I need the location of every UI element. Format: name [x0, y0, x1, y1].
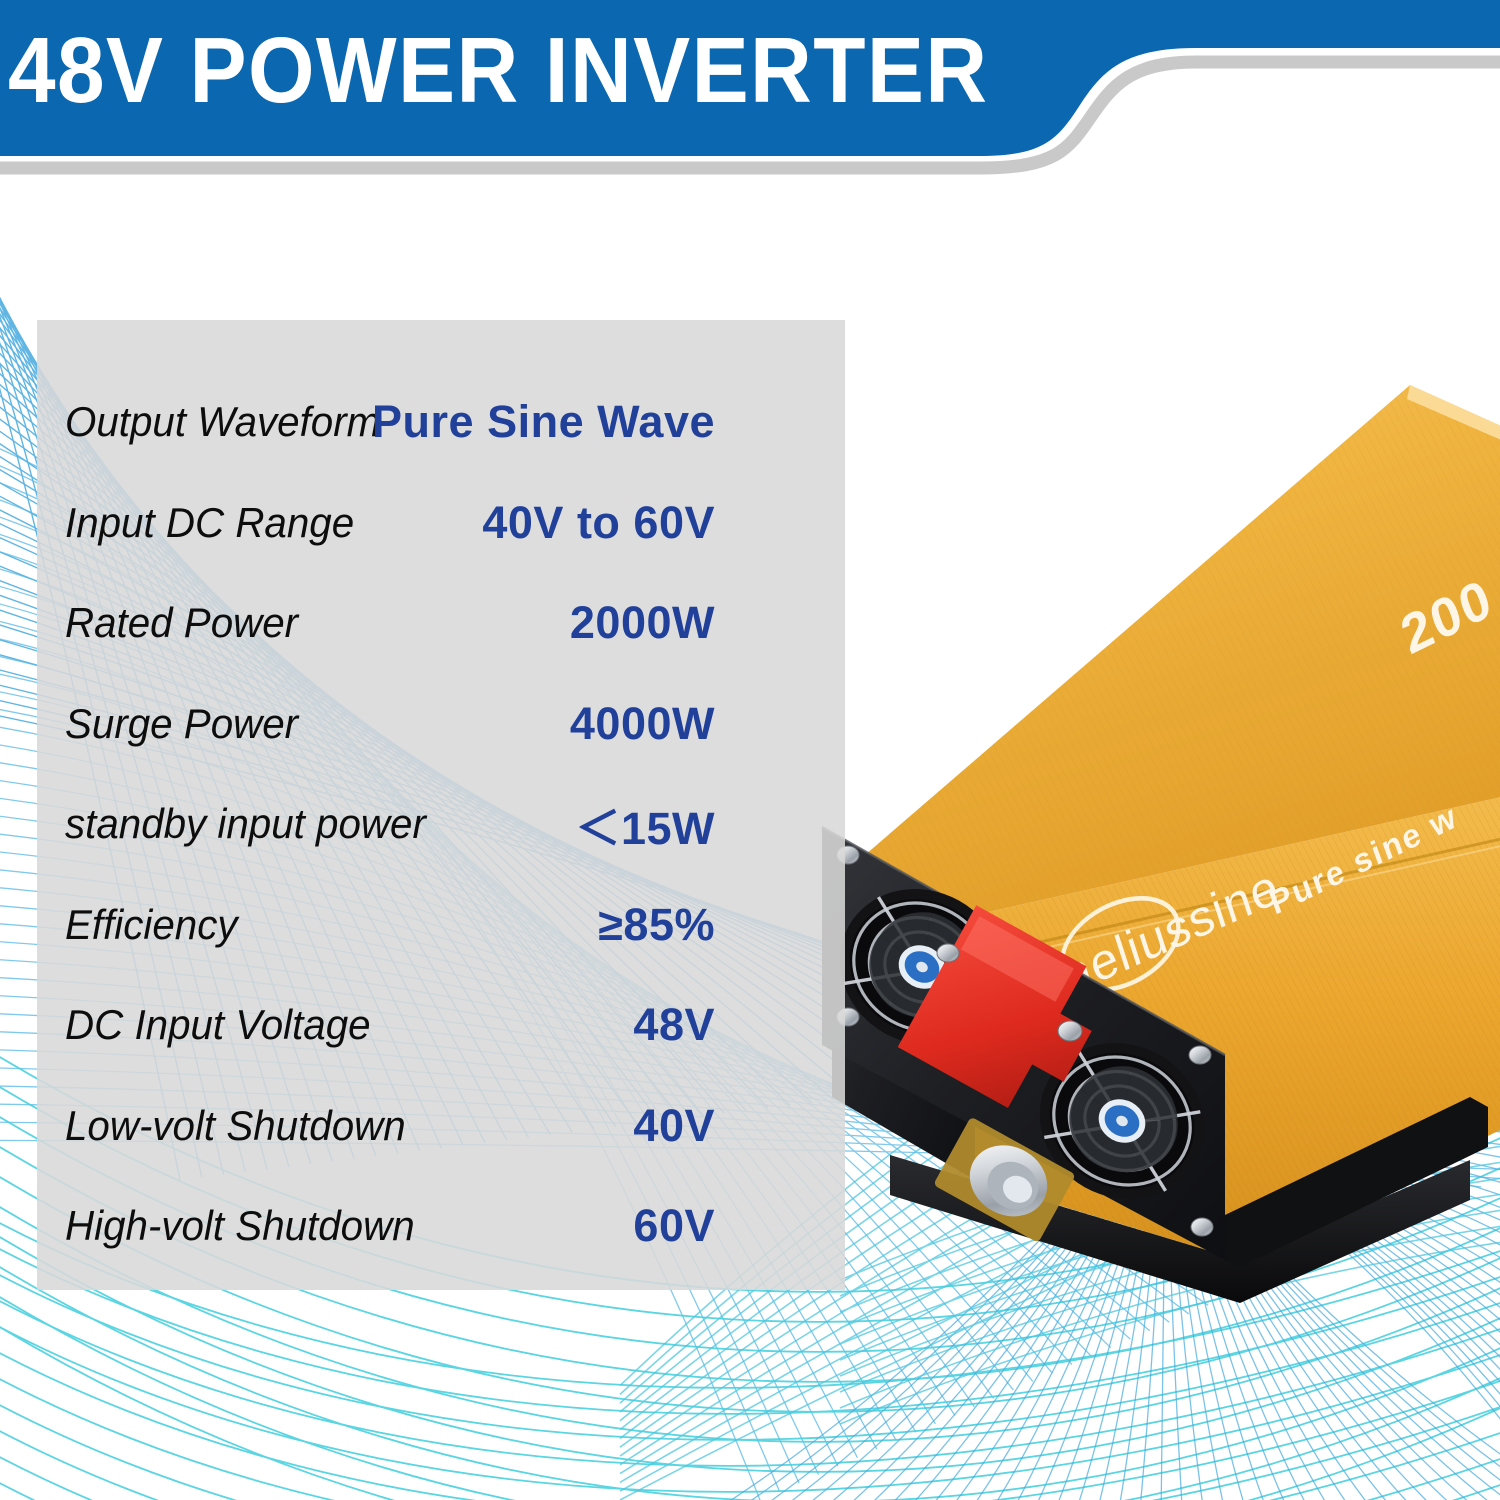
spec-row: Efficiency≥85% — [37, 895, 845, 955]
spec-label: standby input power — [65, 800, 426, 848]
screw-icon — [1189, 1046, 1211, 1064]
header-banner: 48V POWER INVERTER — [0, 0, 1500, 185]
spec-label: Input DC Range — [65, 499, 354, 547]
spec-row: Surge Power4000W — [37, 694, 845, 754]
spec-value: 2000W — [570, 597, 715, 649]
spec-value: ≥85% — [598, 899, 715, 951]
spec-row: standby input power＜15W — [37, 794, 845, 854]
spec-label: Low-volt Shutdown — [65, 1102, 406, 1150]
spec-row: High-volt Shutdown60V — [37, 1196, 845, 1256]
spec-value: 48V — [633, 999, 715, 1051]
screw-icon — [937, 944, 959, 962]
spec-value: ＜15W — [575, 792, 715, 857]
spec-value: 60V — [633, 1200, 715, 1252]
spec-row: Output WaveformPure Sine Wave — [37, 392, 845, 452]
spec-label: Efficiency — [65, 901, 238, 949]
spec-label: Surge Power — [65, 700, 298, 748]
spec-label: Output Waveform — [65, 398, 380, 446]
specifications-table: Output WaveformPure Sine WaveInput DC Ra… — [37, 320, 845, 1290]
spec-value: 4000W — [570, 698, 715, 750]
spec-label: Rated Power — [65, 599, 298, 647]
spec-row: Rated Power2000W — [37, 593, 845, 653]
screw-icon — [1058, 1021, 1082, 1041]
background-curve — [0, 1424, 1500, 1500]
spec-row: Input DC Range40V to 60V — [37, 493, 845, 553]
banner-title: 48V POWER INVERTER — [8, 24, 988, 117]
spec-row: DC Input Voltage48V — [37, 995, 845, 1055]
spec-value: 40V — [633, 1100, 715, 1152]
screw-icon — [1191, 1218, 1213, 1236]
spec-label: High-volt Shutdown — [65, 1202, 415, 1250]
spec-value: Pure Sine Wave — [372, 396, 715, 448]
spec-label: DC Input Voltage — [65, 1001, 371, 1049]
product-marketing-image: 48V POWER INVERTER — [0, 0, 1500, 1500]
product-image-inverter: aeliussine Pure sine w 200 — [770, 355, 1500, 1315]
spec-row: Low-volt Shutdown40V — [37, 1096, 845, 1156]
inverter-illustration: aeliussine Pure sine w 200 — [770, 355, 1500, 1315]
spec-value: 40V to 60V — [482, 497, 715, 549]
